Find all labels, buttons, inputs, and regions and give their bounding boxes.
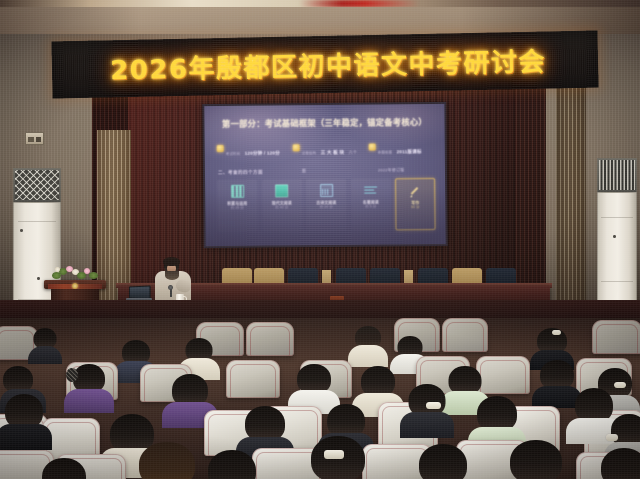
conference-hall-photo: 2026年殷都区初中语文中考研讨会 第一部分：考试基础框架（三年稳定，锚定备考核… — [0, 0, 640, 479]
ceiling-red-accent — [300, 0, 420, 7]
audience-member — [410, 444, 476, 479]
audience-member — [0, 394, 52, 448]
presenter-collar — [165, 271, 179, 280]
air-conditioner-right — [597, 158, 637, 318]
audience-seat[interactable] — [246, 322, 294, 356]
audience-member — [34, 458, 94, 479]
projection-screen-frame: 第一部分：考试基础框架（三年稳定，锚定备考核心） 考试时间 120分钟 / 12… — [202, 102, 447, 248]
audience-member — [400, 384, 454, 436]
projection-screen: 第一部分：考试基础框架（三年稳定，锚定备考核心） 考试时间 120分钟 / 12… — [204, 104, 445, 246]
audience-seating — [0, 318, 640, 479]
audience-member — [128, 442, 206, 479]
audience-member — [594, 448, 640, 479]
audience-member — [28, 328, 62, 362]
led-banner-text: 2026年殷都区初中语文中考研讨会 — [51, 31, 598, 99]
audience-member — [300, 436, 376, 479]
microphone-icon — [168, 285, 173, 290]
wall-control-panel[interactable] — [25, 132, 44, 145]
audience-seat[interactable] — [226, 360, 280, 398]
led-display-banner: 2026年殷都区初中语文中考研讨会 — [51, 31, 598, 99]
audience-member — [500, 440, 572, 479]
audience-seat[interactable] — [442, 318, 488, 352]
audience-seat[interactable] — [592, 320, 640, 354]
audience-member — [200, 450, 264, 479]
audience-member — [348, 326, 388, 364]
presenter-hair — [163, 257, 180, 266]
audience-member — [64, 364, 114, 410]
